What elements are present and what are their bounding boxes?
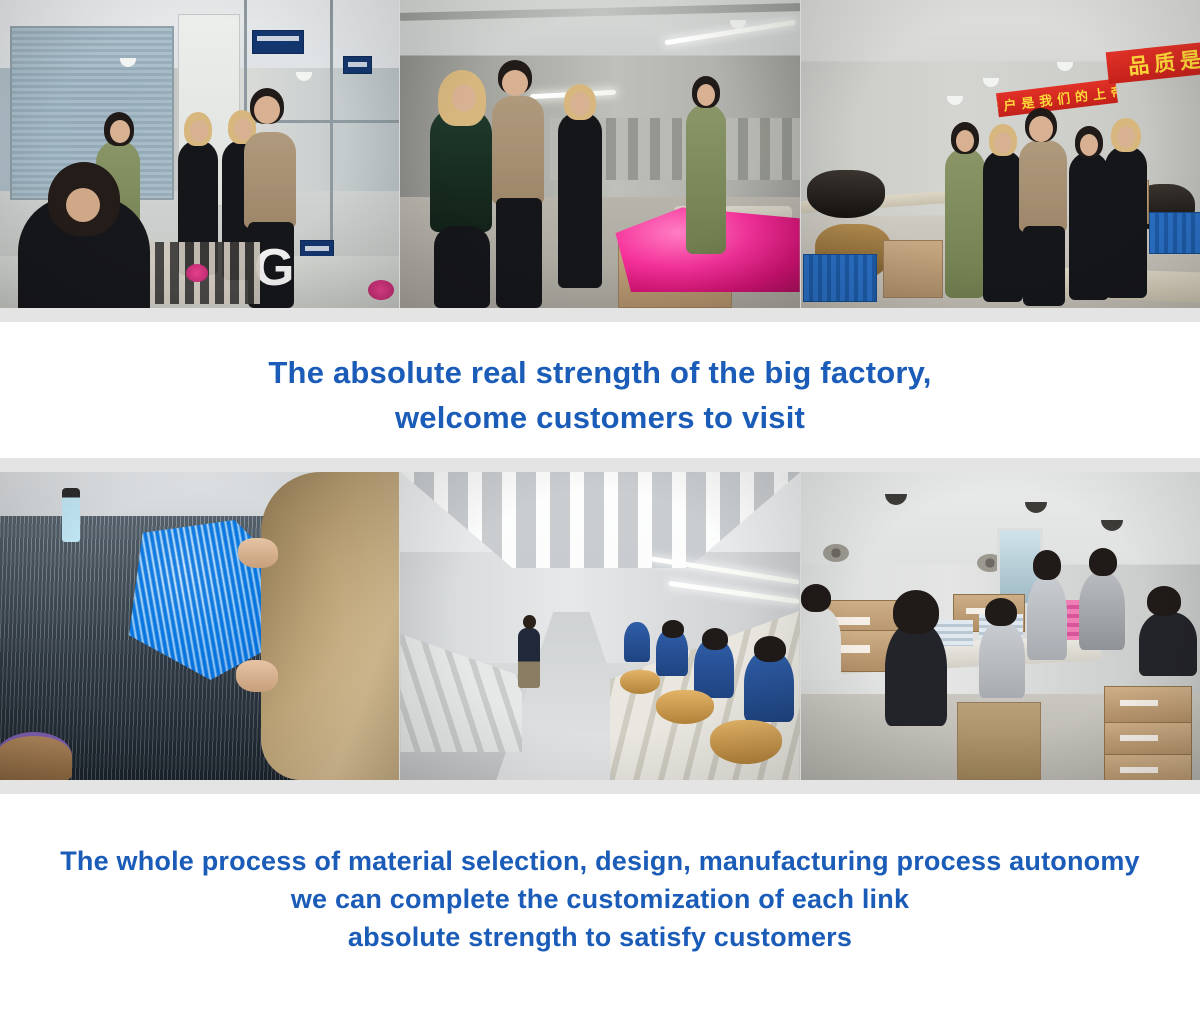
blue-crate	[1149, 212, 1200, 254]
caption-line-1: The whole process of material selection,…	[0, 842, 1200, 880]
manager-trousers	[496, 198, 542, 308]
person-hair	[985, 598, 1017, 626]
photo-blue-fibre-hackling	[0, 472, 399, 780]
row-separator-band	[0, 308, 1200, 322]
visitor-trousers	[434, 226, 490, 308]
packer-person	[1079, 572, 1125, 650]
fluorescent-tube	[669, 581, 800, 604]
person-head	[110, 120, 130, 143]
person-hair	[893, 590, 939, 634]
department-sign	[252, 30, 304, 54]
blue-fibre-illustration	[0, 472, 399, 780]
visitor-person	[983, 150, 1023, 302]
carton-stack	[1104, 722, 1192, 758]
row-separator-band	[0, 458, 1200, 472]
foreground-worker	[18, 196, 150, 308]
visitor-person	[1105, 146, 1147, 298]
person-head	[994, 132, 1012, 154]
slogan-banner: 品质是	[1105, 40, 1200, 84]
packer-person	[979, 622, 1025, 698]
person-head	[1117, 126, 1135, 148]
carton-stack	[1104, 686, 1192, 724]
packer-person	[801, 608, 841, 680]
slogan-banner: 客户是我们的上帝	[996, 79, 1118, 117]
caption-line-2: welcome customers to visit	[0, 395, 1200, 440]
caption-line-1: The absolute real strength of the big fa…	[0, 350, 1200, 395]
pendant-lamp	[296, 72, 312, 81]
caption-line-3: absolute strength to satisfy customers	[0, 918, 1200, 956]
hall-ceiling	[400, 472, 799, 568]
cardboard-carton	[883, 240, 943, 298]
pendant-lamp	[947, 96, 963, 105]
group-portrait-illustration: 客户是我们的上帝 品质是	[801, 0, 1200, 308]
photo-sewing-floor-tour	[400, 0, 799, 308]
manager-person	[1019, 140, 1067, 232]
factory-visit-photo-row: G	[0, 0, 1200, 308]
person-hair	[801, 584, 831, 612]
marketing-banner-page: G	[0, 0, 1200, 1000]
staff-person	[686, 104, 726, 254]
person-head	[254, 96, 280, 124]
high-bay-lamp	[1025, 502, 1047, 513]
person-head	[190, 120, 208, 142]
high-bay-lamp	[1101, 520, 1123, 531]
wall-fan	[823, 544, 849, 562]
photo-office-visit: G	[0, 0, 399, 308]
office-visit-illustration: G	[0, 0, 399, 308]
staff-person	[945, 148, 985, 298]
sewing-floor-illustration	[400, 0, 799, 308]
manager-trousers	[1023, 226, 1065, 306]
pendant-lamp	[983, 78, 999, 87]
person-hair	[1147, 586, 1181, 616]
walking-supervisor	[518, 628, 540, 688]
person-hair	[1089, 548, 1117, 576]
person-hair	[754, 636, 786, 662]
factory-strength-caption: The absolute real strength of the big fa…	[0, 322, 1200, 458]
open-carton	[957, 702, 1041, 780]
caption-line-2: we can complete the customization of eac…	[0, 880, 1200, 918]
window-mullion	[330, 0, 333, 250]
worker-hand	[238, 538, 278, 568]
person-hair	[662, 620, 684, 638]
spray-bottle	[62, 488, 80, 542]
production-hall-illustration	[400, 472, 799, 780]
pendant-lamp	[1057, 62, 1073, 71]
packer-person	[1139, 612, 1197, 676]
person-head	[956, 130, 974, 152]
blue-crate	[803, 254, 877, 302]
production-process-photo-row	[0, 472, 1200, 780]
packing-department-illustration	[801, 472, 1200, 780]
manager-person	[492, 96, 544, 204]
person-head	[1029, 116, 1053, 142]
carton-stack	[1104, 754, 1192, 780]
trouser-logo-letter: G	[254, 242, 294, 294]
workbench-row-left	[400, 634, 522, 752]
person-hair	[1033, 550, 1061, 580]
person-hair	[702, 628, 728, 650]
manager-person	[244, 132, 296, 228]
photo-production-hall	[400, 472, 799, 780]
worker-hand	[236, 660, 278, 692]
department-sign	[343, 56, 372, 74]
person-head	[1080, 134, 1098, 156]
visitor-person	[430, 108, 492, 232]
pink-hair-sample	[186, 264, 208, 282]
blonde-hair-fibre	[710, 720, 782, 764]
ceiling-duct	[400, 3, 799, 21]
row-separator-band	[0, 780, 1200, 794]
visitor-person	[558, 112, 602, 288]
blonde-hair-fibre	[620, 670, 660, 694]
pink-hair-sample	[368, 280, 394, 300]
worker-person	[624, 622, 650, 662]
high-bay-lamp	[885, 494, 907, 505]
packer-person	[1027, 576, 1067, 660]
worker-jacket-sleeve	[261, 472, 399, 780]
photo-packing-department	[801, 472, 1200, 780]
blonde-hair-fibre	[656, 690, 714, 724]
photo-group-portrait: 客户是我们的上帝 品质是	[801, 0, 1200, 308]
staff-person	[1069, 152, 1109, 300]
black-hair-fibre	[807, 170, 885, 218]
packer-person	[885, 622, 947, 726]
process-autonomy-caption: The whole process of material selection,…	[0, 794, 1200, 1026]
fibre-basin	[0, 732, 72, 780]
